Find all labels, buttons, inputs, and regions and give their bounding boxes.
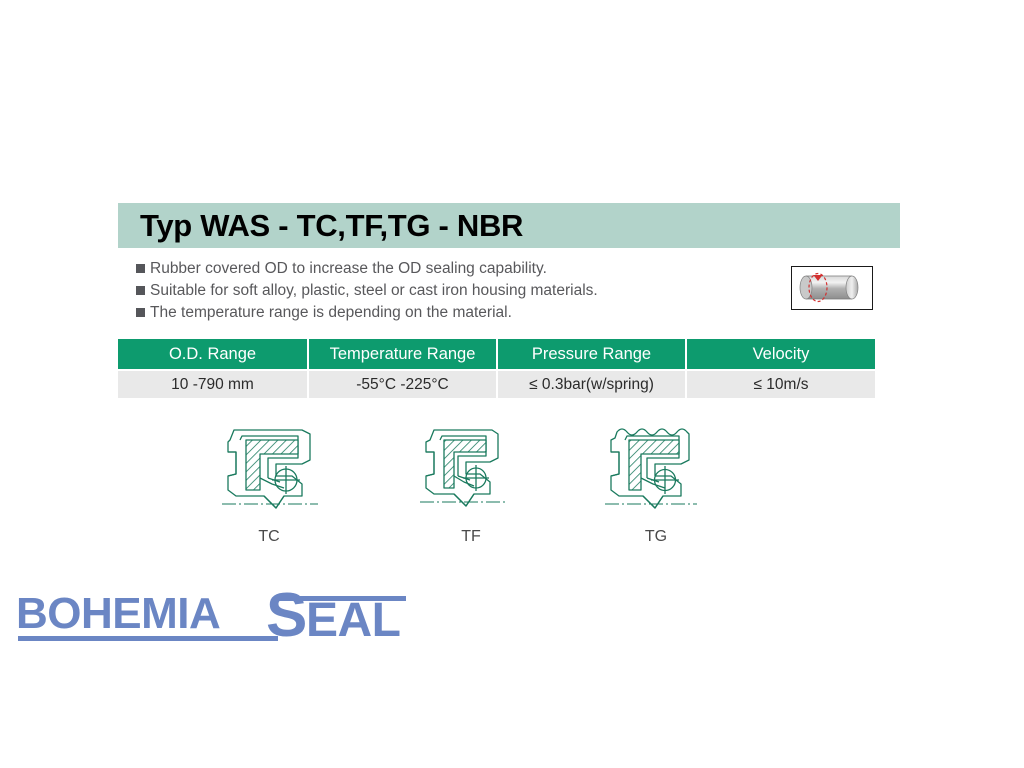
seal-diagram-tg	[593, 418, 713, 528]
logo-text-eal: EAL	[306, 594, 401, 647]
specification-table: O.D. Range Temperature Range Pressure Ra…	[118, 339, 875, 398]
list-item: Rubber covered OD to increase the OD sea…	[136, 258, 756, 280]
list-item: The temperature range is depending on th…	[136, 302, 756, 324]
rotating-shaft-icon	[791, 266, 873, 310]
page-title: Typ WAS - TC,TF,TG - NBR	[140, 206, 900, 246]
cell-velocity: ≤ 10m/s	[687, 371, 875, 398]
seal-tg-graphic	[593, 418, 713, 523]
feature-text: Suitable for soft alloy, plastic, steel …	[150, 280, 598, 302]
bohemia-seal-logo-graphic: BOHEMIA S EAL	[16, 588, 416, 648]
table-header-row: O.D. Range Temperature Range Pressure Ra…	[118, 339, 875, 369]
seal-tf-graphic	[408, 418, 523, 523]
seal-label-tf: TF	[441, 528, 501, 546]
cell-pressure-range: ≤ 0.3bar(w/spring)	[498, 371, 685, 398]
logo-underline	[18, 636, 278, 641]
feature-list: Rubber covered OD to increase the OD sea…	[136, 258, 756, 324]
company-logo: BOHEMIA S EAL	[16, 588, 416, 648]
column-header-velocity: Velocity	[687, 339, 875, 369]
feature-text: Rubber covered OD to increase the OD sea…	[150, 258, 547, 280]
column-header-pressure-range: Pressure Range	[498, 339, 685, 369]
seal-label-tc: TC	[239, 528, 299, 546]
cell-od-range: 10 -790 mm	[118, 371, 307, 398]
seal-tc-graphic	[206, 418, 336, 523]
logo-overbar	[278, 596, 406, 601]
bullet-square-icon	[136, 308, 145, 317]
logo-text-bohemia: BOHEMIA	[16, 589, 220, 638]
seal-diagram-tf	[408, 418, 523, 528]
shaft-icon-graphic	[792, 267, 871, 308]
cell-temperature-range: -55°C -225°C	[309, 371, 496, 398]
seal-diagram-tc	[206, 418, 336, 528]
bullet-square-icon	[136, 264, 145, 273]
seal-label-tg: TG	[626, 528, 686, 546]
table-row: 10 -790 mm -55°C -225°C ≤ 0.3bar(w/sprin…	[118, 371, 875, 398]
column-header-od-range: O.D. Range	[118, 339, 307, 369]
feature-text: The temperature range is depending on th…	[150, 302, 512, 324]
bullet-square-icon	[136, 286, 145, 295]
column-header-temperature-range: Temperature Range	[309, 339, 496, 369]
list-item: Suitable for soft alloy, plastic, steel …	[136, 280, 756, 302]
